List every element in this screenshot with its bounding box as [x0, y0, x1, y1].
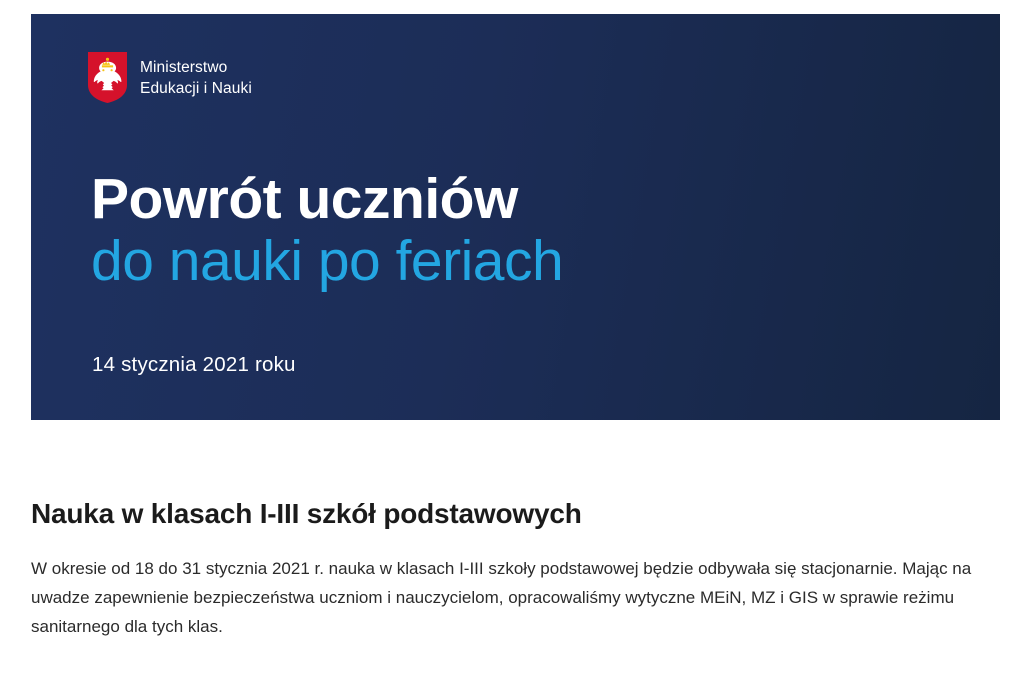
article-page: Ministerstwo Edukacji i Nauki Powrót ucz…	[0, 0, 1032, 673]
page-title: Nauka w klasach I-III szkół podstawowych	[31, 497, 996, 531]
ministry-logo-line-1: Ministerstwo	[140, 57, 252, 78]
banner-headline-line-1: Powrót uczniów	[91, 169, 563, 229]
polish-eagle-crest-icon	[88, 52, 127, 103]
banner-headline: Powrót uczniów do nauki po feriach	[91, 169, 563, 292]
article-paragraph: W okresie od 18 do 31 stycznia 2021 r. n…	[31, 531, 993, 641]
ministry-logo-text: Ministerstwo Edukacji i Nauki	[140, 57, 252, 99]
ministry-logo-line-2: Edukacji i Nauki	[140, 78, 252, 99]
banner-headline-line-2: do nauki po feriach	[91, 231, 563, 291]
ministry-logo: Ministerstwo Edukacji i Nauki	[88, 52, 252, 103]
article-content: Nauka w klasach I-III szkół podstawowych…	[31, 497, 996, 641]
announcement-banner: Ministerstwo Edukacji i Nauki Powrót ucz…	[31, 14, 1000, 420]
banner-date: 14 stycznia 2021 roku	[92, 353, 296, 377]
